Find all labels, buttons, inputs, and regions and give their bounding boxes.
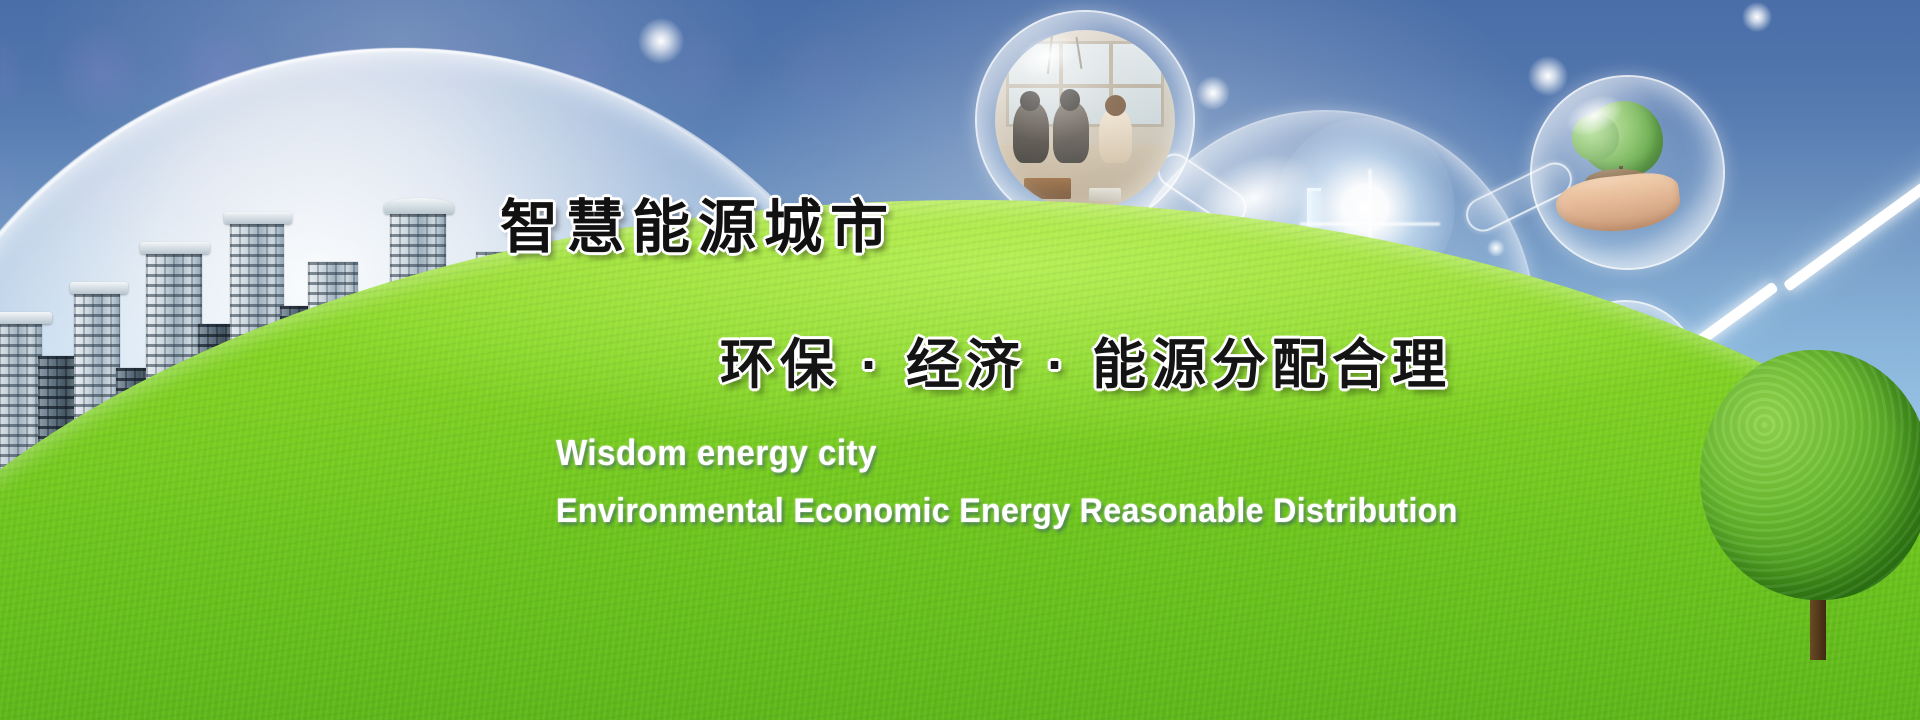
tower-cap: [0, 312, 52, 324]
tagline-english: Wisdom energy city: [556, 432, 877, 474]
tree-bubble: [1530, 75, 1725, 270]
tower-cap: [70, 282, 128, 294]
energy-city-banner: 智慧能源城市 环保 · 经济 · 能源分配合理 Wisdom energy ci…: [0, 0, 1920, 720]
description-english: Environmental Economic Energy Reasonable…: [556, 492, 1458, 531]
page-title: 智慧能源城市: [500, 180, 896, 264]
sparkle-icon: [1196, 76, 1230, 110]
tower-cap: [384, 198, 454, 214]
bubble-glass: [1530, 75, 1725, 270]
sparkle-icon: [1742, 2, 1772, 32]
tower-cap: [140, 242, 210, 254]
page-subtitle: 环保 · 经济 · 能源分配合理: [720, 320, 1452, 399]
sparkle-icon: [1528, 56, 1568, 96]
big-tree: [1700, 350, 1920, 650]
tower-cap: [224, 212, 292, 224]
sparkle-icon: [638, 18, 684, 64]
tree-crown: [1700, 350, 1920, 600]
